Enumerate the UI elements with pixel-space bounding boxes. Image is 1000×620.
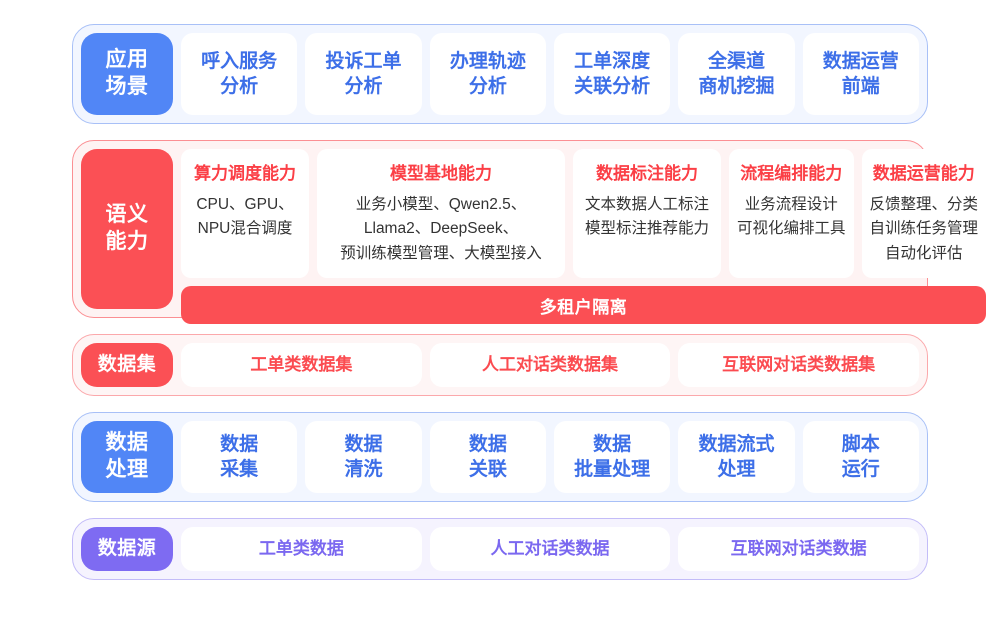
row-badge-semantic-capability: 语义 能力 (81, 149, 173, 309)
card-line-1: 办理轨迹 (450, 49, 526, 74)
card-line-2: 清洗 (344, 457, 382, 482)
row-badge-data-sources: 数据源 (81, 527, 173, 571)
card-line-1: 数据 (220, 432, 258, 457)
badge-label: 数据源 (98, 537, 157, 561)
source-card-internet-dialogue-data[interactable]: 互联网对话类数据 (678, 527, 919, 571)
dataset-card-ticket[interactable]: 工单类数据集 (181, 343, 422, 387)
card-line-2: 关联 (469, 457, 507, 482)
row-data-sources: 数据源 工单类数据 人工对话类数据 互联网对话类数据 (72, 518, 928, 580)
capability-card-list: 算力调度能力 CPU、GPU、 NPU混合调度 模型基地能力 业务小模型、Qwe… (181, 149, 986, 278)
data-source-card-list: 工单类数据 人工对话类数据 互联网对话类数据 (181, 527, 919, 571)
card-line-2: 处理 (717, 457, 755, 482)
dataset-card-human-dialogue[interactable]: 人工对话类数据集 (430, 343, 671, 387)
badge-line-2: 能力 (106, 229, 149, 256)
capability-body-line: 模型标注推荐能力 (585, 217, 709, 241)
capability-title: 模型基地能力 (390, 159, 492, 184)
card-line-2: 批量处理 (574, 457, 650, 482)
processing-card-script-runtime[interactable]: 脚本 运行 (803, 421, 919, 493)
capability-title: 流程编排能力 (740, 159, 842, 184)
card-line-1: 全渠道 (708, 49, 765, 74)
card-line-1: 投诉工单 (325, 49, 401, 74)
badge-line-1: 数据 (106, 430, 149, 457)
capability-card-model-base[interactable]: 模型基地能力 业务小模型、Qwen2.5、 Llama2、DeepSeek、 预… (317, 149, 565, 278)
card-line-1: 数据流式 (698, 432, 774, 457)
capability-body-line: 文本数据人工标注 (585, 193, 709, 217)
row-badge-data-processing: 数据 处理 (81, 421, 173, 493)
scenario-card-inbound-service[interactable]: 呼入服务 分析 (181, 33, 297, 115)
scenario-card-handling-trace[interactable]: 办理轨迹 分析 (430, 33, 546, 115)
semantic-capability-column: 算力调度能力 CPU、GPU、 NPU混合调度 模型基地能力 业务小模型、Qwe… (181, 149, 986, 309)
card-line-2: 分析 (344, 74, 382, 99)
dataset-card-internet-dialogue[interactable]: 互联网对话类数据集 (678, 343, 919, 387)
row-semantic-capability: 语义 能力 算力调度能力 CPU、GPU、 NPU混合调度 模型基地能力 业务小… (72, 140, 928, 318)
row-badge-application-scenarios: 应用 场景 (81, 33, 173, 115)
badge-line-1: 语义 (106, 202, 149, 229)
scenario-card-omnichannel-opportunity[interactable]: 全渠道 商机挖掘 (678, 33, 794, 115)
capability-body: 反馈整理、分类 自训练任务管理 自动化评估 (870, 193, 979, 266)
card-line-2: 前端 (842, 74, 880, 99)
card-line-2: 商机挖掘 (698, 74, 774, 99)
badge-line-1: 应用 (106, 47, 149, 74)
badge-label: 数据集 (98, 353, 157, 377)
data-processing-card-list: 数据 采集 数据 清洗 数据 关联 数据 批量处理 数据流式 处理 脚本 运行 (181, 421, 919, 493)
card-line-1: 数据 (344, 432, 382, 457)
capability-body-line: 业务小模型、Qwen2.5、 (340, 193, 542, 217)
processing-card-batch-processing[interactable]: 数据 批量处理 (554, 421, 670, 493)
application-scenario-card-list: 呼入服务 分析 投诉工单 分析 办理轨迹 分析 工单深度 关联分析 全渠道 商机… (181, 33, 919, 115)
processing-card-data-correlation[interactable]: 数据 关联 (430, 421, 546, 493)
multi-tenant-isolation-bar: 多租户隔离 (181, 286, 986, 324)
card-line-2: 分析 (469, 74, 507, 99)
processing-card-stream-processing[interactable]: 数据流式 处理 (678, 421, 794, 493)
card-line-1: 数据运营 (823, 49, 899, 74)
capability-body-line: Llama2、DeepSeek、 (340, 217, 542, 241)
capability-card-compute-scheduling[interactable]: 算力调度能力 CPU、GPU、 NPU混合调度 (181, 149, 309, 278)
capability-body: 文本数据人工标注 模型标注推荐能力 (585, 193, 709, 242)
card-line-1: 数据 (593, 432, 631, 457)
card-line-2: 运行 (842, 457, 880, 482)
card-line-2: 采集 (220, 457, 258, 482)
scenario-card-ticket-deep-correlation[interactable]: 工单深度 关联分析 (554, 33, 670, 115)
card-line-1: 工单深度 (574, 49, 650, 74)
badge-line-2: 处理 (106, 457, 149, 484)
capability-body-line: NPU混合调度 (196, 217, 293, 241)
card-line-1: 脚本 (842, 432, 880, 457)
scenario-card-data-operation-frontend[interactable]: 数据运营 前端 (803, 33, 919, 115)
dataset-card-list: 工单类数据集 人工对话类数据集 互联网对话类数据集 (181, 343, 919, 387)
capability-title: 数据运营能力 (873, 159, 975, 184)
capability-card-data-operation[interactable]: 数据运营能力 反馈整理、分类 自训练任务管理 自动化评估 (862, 149, 987, 278)
badge-line-2: 场景 (106, 74, 149, 101)
source-card-ticket-data[interactable]: 工单类数据 (181, 527, 422, 571)
card-line-2: 关联分析 (574, 74, 650, 99)
processing-card-data-collection[interactable]: 数据 采集 (181, 421, 297, 493)
row-data-processing: 数据 处理 数据 采集 数据 清洗 数据 关联 数据 批量处理 数据流式 处理 (72, 412, 928, 502)
capability-body-line: 自动化评估 (870, 242, 979, 266)
capability-card-data-annotation[interactable]: 数据标注能力 文本数据人工标注 模型标注推荐能力 (573, 149, 721, 278)
capability-card-process-orchestration[interactable]: 流程编排能力 业务流程设计 可视化编排工具 (729, 149, 854, 278)
capability-body: 业务流程设计 可视化编排工具 (737, 193, 846, 242)
capability-body-line: 反馈整理、分类 (870, 193, 979, 217)
architecture-diagram: 应用 场景 呼入服务 分析 投诉工单 分析 办理轨迹 分析 工单深度 关联分析 … (0, 0, 1000, 620)
multi-tenant-isolation-label: 多租户隔离 (540, 293, 628, 318)
capability-body-line: 自训练任务管理 (870, 217, 979, 241)
row-application-scenarios: 应用 场景 呼入服务 分析 投诉工单 分析 办理轨迹 分析 工单深度 关联分析 … (72, 24, 928, 124)
capability-body: 业务小模型、Qwen2.5、 Llama2、DeepSeek、 预训练模型管理、… (340, 193, 542, 266)
card-line-1: 呼入服务 (201, 49, 277, 74)
capability-title: 算力调度能力 (194, 159, 296, 184)
capability-title: 数据标注能力 (596, 159, 698, 184)
capability-body-line: 业务流程设计 (737, 193, 846, 217)
card-line-1: 数据 (469, 432, 507, 457)
card-line-2: 分析 (220, 74, 258, 99)
scenario-card-complaint-ticket[interactable]: 投诉工单 分析 (305, 33, 421, 115)
capability-body: CPU、GPU、 NPU混合调度 (196, 193, 293, 242)
capability-body-line: CPU、GPU、 (196, 193, 293, 217)
row-badge-datasets: 数据集 (81, 343, 173, 387)
row-datasets: 数据集 工单类数据集 人工对话类数据集 互联网对话类数据集 (72, 334, 928, 396)
processing-card-data-cleaning[interactable]: 数据 清洗 (305, 421, 421, 493)
source-card-human-dialogue-data[interactable]: 人工对话类数据 (430, 527, 671, 571)
capability-body-line: 预训练模型管理、大模型接入 (340, 242, 542, 266)
capability-body-line: 可视化编排工具 (737, 217, 846, 241)
